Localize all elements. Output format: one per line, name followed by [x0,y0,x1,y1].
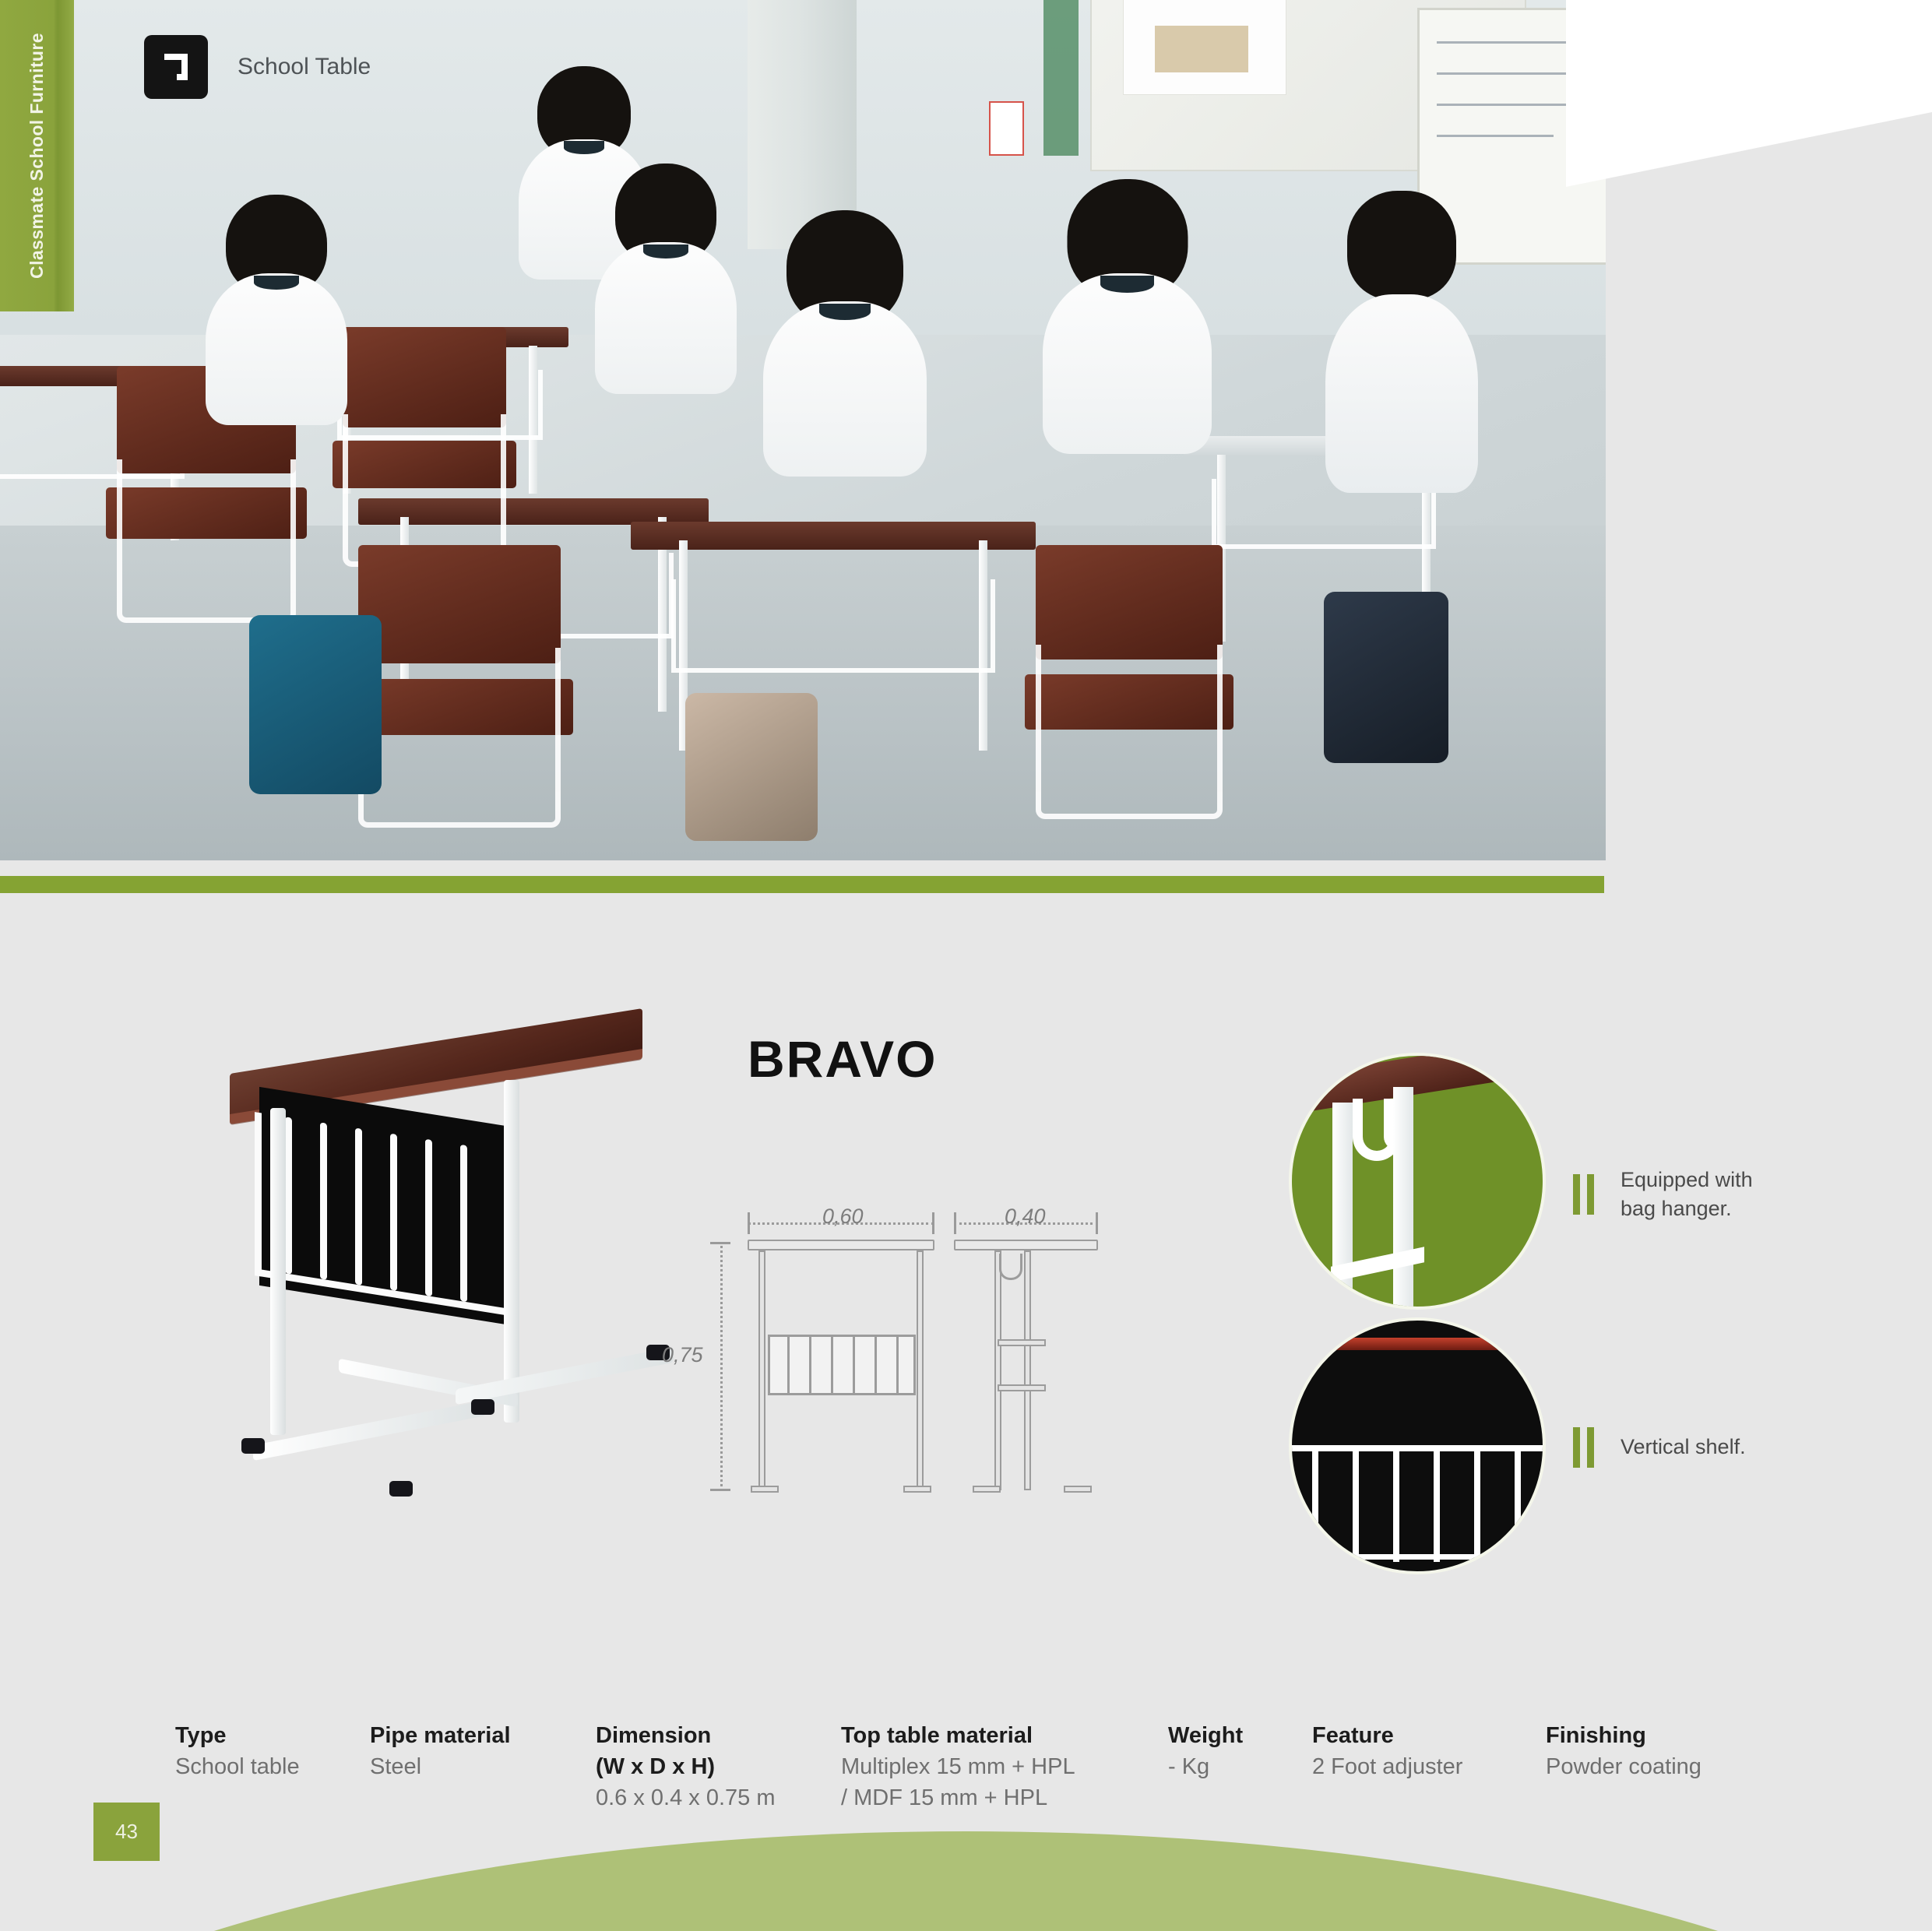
detail-shelf-rail [1303,1554,1532,1560]
student-uniform [1043,273,1212,455]
spec-column-weight: Weight - Kg [1168,1720,1312,1782]
spec-header: Weight [1168,1720,1312,1751]
feature-callout-bag-hanger: Equipped with bag hanger. [1573,1166,1753,1224]
front-view-base [751,1486,779,1493]
feature-callout-text: Vertical shelf. [1621,1433,1746,1461]
classroom-chair [358,545,561,802]
classroom-hero-photo [0,0,1606,860]
side-view [954,1240,1098,1493]
spec-header: Top table material [841,1720,1168,1751]
product-leg [504,1080,519,1423]
technical-drawing: 0,60 0,40 0,75 [748,1205,1168,1641]
student-uniform [763,301,927,477]
spec-column-feature: Feature 2 Foot adjuster [1312,1720,1546,1782]
callout-accent-bars [1573,1174,1594,1215]
chair-frame [1036,645,1223,819]
product-foot-adjuster [389,1481,413,1497]
front-view-leg [758,1250,765,1490]
student-bag [685,693,818,841]
feature-callout-vertical-shelf: Vertical shelf. [1573,1427,1746,1468]
student-uniform [1325,294,1478,493]
student-head [1347,191,1456,300]
green-board [1043,0,1079,156]
bag-hanger-detail-icon [1289,1053,1546,1310]
desk-top [631,522,1036,550]
chair-frame [358,648,561,828]
classmate-square-logo-icon [144,35,208,99]
product-base [253,1400,487,1461]
corner-decoration [1566,0,1932,187]
uniform-collar [643,244,688,259]
uniform-collar [819,304,871,320]
side-view-cross [998,1384,1046,1391]
projected-slide [1123,0,1286,95]
dimension-line [720,1242,723,1491]
dimension-tick [932,1212,934,1234]
product-base [456,1347,674,1405]
spec-header: Pipe material [370,1720,596,1751]
height-dimension-label: 0,75 [662,1343,703,1367]
feature-text-line1: Equipped with [1621,1166,1753,1194]
product-photo [199,1033,666,1594]
student [615,164,716,265]
callout-accent-bars [1573,1427,1594,1468]
detail-table-edge [1292,1338,1543,1350]
front-view-top [748,1240,934,1250]
feature-text-line1: Vertical shelf. [1621,1433,1746,1461]
spec-value-2: / MDF 15 mm + HPL [841,1782,1168,1813]
front-view-shelf [768,1335,916,1395]
depth-dimension-label: 0,40 [1005,1205,1046,1229]
spec-column-pipe-material: Pipe material Steel [370,1720,596,1782]
spec-column-top-table-material: Top table material Multiplex 15 mm + HPL… [841,1720,1168,1813]
spec-value: - Kg [1168,1751,1312,1782]
student-bag [249,615,382,794]
side-view-leg [1024,1250,1031,1490]
width-dimension-label: 0,60 [822,1205,864,1229]
feature-text-line2: bag hanger. [1621,1194,1753,1223]
uniform-collar [254,276,298,290]
specifications-table: Type School table Pipe material Steel Di… [175,1720,1826,1813]
side-view-base [1064,1486,1092,1493]
section-divider [0,876,1604,893]
spec-column-type: Type School table [175,1720,370,1782]
spec-column-finishing: Finishing Powder coating [1546,1720,1779,1782]
product-foot-adjuster [241,1438,265,1454]
spec-value: Multiplex 15 mm + HPL [841,1751,1168,1782]
student-uniform [206,273,347,425]
spec-header: Finishing [1546,1720,1779,1751]
side-view-cross [998,1339,1046,1346]
chair-frame [343,414,506,567]
brand-spine-label: Classmate School Furniture [0,0,74,311]
detail-leg [1393,1087,1413,1310]
spec-value: School table [175,1751,370,1782]
student-presenting [1347,191,1456,323]
product-section: BRAVO 0,60 0,40 0,75 [0,893,1932,1931]
header: School Table [144,35,371,99]
side-view-base [973,1486,1001,1493]
spec-header: Type [175,1720,370,1751]
uniform-collar [1100,276,1153,293]
front-view [748,1240,934,1493]
whiteboard-writing [1437,72,1585,75]
side-view-bag-hanger-icon [999,1254,1022,1280]
uniform-collar [564,141,605,154]
spec-value: 0.6 x 0.4 x 0.75 m [596,1782,841,1813]
dimension-tick [1096,1212,1098,1234]
spec-header: Dimension [596,1720,841,1751]
feature-callout-text: Equipped with bag hanger. [1621,1166,1753,1224]
chair-frame [117,459,296,623]
spec-value: 2 Foot adjuster [1312,1751,1546,1782]
chair-back [358,545,561,663]
detail-shelf-rail [1292,1445,1543,1451]
spec-header: Feature [1312,1720,1546,1751]
spec-header-sub: (W x D x H) [596,1751,841,1782]
product-leg [270,1108,286,1435]
chair-back [343,327,506,427]
classroom-chair [1036,545,1223,794]
student [787,210,903,327]
side-view-top [954,1240,1098,1250]
student-bag [1324,592,1448,763]
category-label: School Table [238,54,371,80]
spec-value: Powder coating [1546,1751,1779,1782]
student [226,195,327,296]
wall-poster [989,101,1024,156]
side-view-leg [994,1250,1001,1490]
student-uniform [595,242,737,394]
front-view-base [903,1486,931,1493]
page-number: 43 [93,1803,160,1861]
front-view-leg [917,1250,924,1490]
desk-basket [671,579,995,673]
product-foot-adjuster [471,1399,494,1415]
dimension-tick [710,1489,730,1491]
vertical-shelf-detail-icon [1289,1317,1546,1574]
spec-value: Steel [370,1751,596,1782]
whiteboard-writing [1437,135,1554,137]
chair-back [1036,545,1223,659]
product-title: BRAVO [748,1029,937,1089]
spec-column-dimension: Dimension (W x D x H) 0.6 x 0.4 x 0.75 m [596,1720,841,1813]
student [537,66,631,160]
student [1067,179,1188,300]
classroom-chair [343,327,506,545]
brand-spine: Classmate School Furniture [0,0,74,311]
